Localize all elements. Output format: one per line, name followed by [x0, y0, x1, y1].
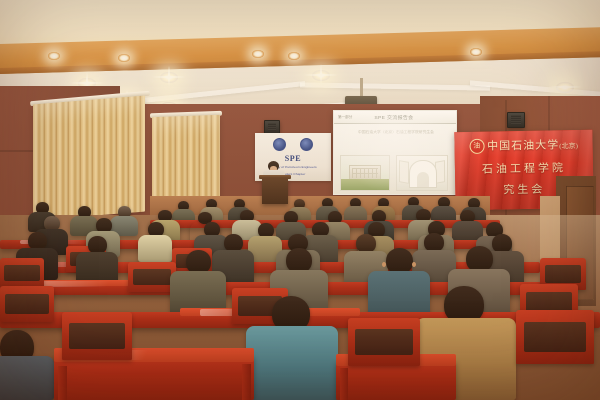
bench-leg [340, 368, 348, 400]
bench-row-front-right [336, 360, 456, 400]
university-seal-icon: 油 [469, 138, 484, 153]
spe-banner-title: SPE [255, 154, 331, 163]
chair-back-front [62, 312, 132, 360]
lecture-hall-photo: SPE Society of Petroleum Engineers Stude… [0, 0, 600, 400]
attendee-torso-front [0, 356, 54, 400]
slide-header: 第一部分 SPE 交流报告会 [334, 111, 456, 124]
slide-photo-gate [396, 155, 448, 191]
ceiling-spotlight [470, 48, 482, 56]
ceiling-spotlight [288, 52, 300, 60]
chair-back [0, 286, 54, 322]
chair-back [128, 262, 176, 292]
red-banner-line1-row: 油 中国石油大学(北京) [469, 136, 578, 154]
projection-screen: 第一部分 SPE 交流报告会 中国石油大学（北京）石油工程学院研究生会 [333, 110, 457, 195]
window-curtain-left [33, 96, 145, 221]
slide-subtitle: 中国石油大学（北京）石油工程学院研究生会 [344, 130, 448, 135]
red-banner-line1-paren: (北京) [559, 142, 578, 150]
red-banner-line3: 究生会 [503, 181, 545, 198]
bench-leg [242, 364, 251, 400]
red-banner-line1-main: 中国石油大学 [487, 139, 559, 152]
spe-banner-logos [255, 138, 331, 151]
podium [262, 178, 288, 204]
chair-back-front [348, 318, 420, 366]
slide-header-title: SPE 交流报告会 [374, 114, 413, 120]
slide-photo-building [340, 155, 390, 191]
wall-speaker-right [507, 112, 525, 128]
projector-mount-pole [360, 78, 363, 98]
attendee-ear [382, 262, 386, 267]
attendee-torso-front [246, 326, 338, 400]
spe-logo-icon [273, 138, 286, 151]
spotlight-flare [548, 86, 582, 88]
chair-back [0, 258, 44, 288]
spotlight-flare [168, 66, 170, 86]
presentation-slide: 第一部分 SPE 交流报告会 中国石油大学（北京）石油工程学院研究生会 [334, 111, 456, 194]
ceiling-spotlight [48, 52, 60, 60]
attendee-ear [412, 262, 416, 267]
red-banner-line1: 中国石油大学(北京) [487, 136, 578, 154]
red-banner-line2: 石油工程学院 [482, 159, 566, 176]
chair-back-front [516, 310, 594, 364]
university-logo-icon [300, 138, 313, 151]
slide-header-left: 第一部分 [338, 115, 352, 120]
attendee-torso [138, 235, 172, 262]
bench-leg [58, 366, 67, 400]
spotlight-flare [320, 64, 322, 84]
ceiling-spotlight [118, 54, 130, 62]
ceiling-spotlight [252, 50, 264, 58]
wall-speaker-left [264, 120, 280, 134]
